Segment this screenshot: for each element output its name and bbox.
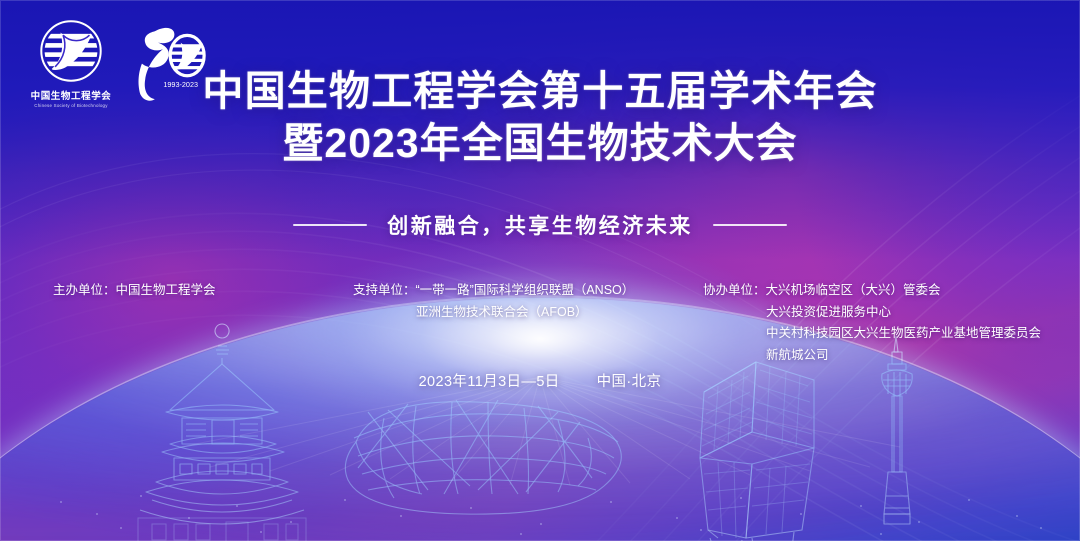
date-location-bar: 2023年11月3日—5日 中国·北京 bbox=[0, 370, 1080, 391]
organizer-column-support: 支持单位：“一带一路”国际科学组织联盟（ANSO） 亚洲生物技术联合会（AFOB… bbox=[353, 280, 703, 323]
organizer-column-coorganizer: 协办单位：大兴机场临空区（大兴）管委会 大兴投资促进服务中心 中关村科技园区大兴… bbox=[703, 280, 1033, 366]
organizer-value: “一带一路”国际科学组织联盟（ANSO） bbox=[416, 283, 635, 297]
organizer-line: 协办单位：大兴机场临空区（大兴）管委会 bbox=[703, 280, 1033, 302]
organizer-role: 主办单位： bbox=[53, 283, 116, 297]
organizer-line: 中关村科技园区大兴生物医药产业基地管理委员会 bbox=[703, 323, 1033, 345]
slogan-rule-left bbox=[293, 224, 367, 226]
organizer-value: 中国生物工程学会 bbox=[116, 283, 216, 297]
organizer-line: 主办单位：中国生物工程学会 bbox=[53, 280, 353, 302]
organizers-block: 主办单位：中国生物工程学会 支持单位：“一带一路”国际科学组织联盟（ANSO） … bbox=[0, 280, 1080, 366]
organizer-line: 大兴投资促进服务中心 bbox=[703, 302, 1033, 324]
organizer-column-sponsor: 主办单位：中国生物工程学会 bbox=[47, 280, 353, 302]
organizer-role: 支持单位： bbox=[353, 283, 416, 297]
organizer-line: 支持单位：“一带一路”国际科学组织联盟（ANSO） bbox=[353, 280, 703, 302]
slogan-rule-right bbox=[713, 224, 787, 226]
banner-content: 中国生物工程学会 Chinese Society of Biotechnolog… bbox=[0, 0, 1080, 541]
conference-banner: 中国生物工程学会 Chinese Society of Biotechnolog… bbox=[0, 0, 1080, 541]
event-date: 2023年11月3日—5日 bbox=[419, 374, 560, 390]
organizer-line: 亚洲生物技术联合会（AFOB） bbox=[353, 302, 703, 324]
slogan-text: 创新融合，共享生物经济未来 bbox=[387, 210, 693, 240]
organizer-role: 协办单位： bbox=[703, 283, 766, 297]
title-block: 中国生物工程学会第十五届学术年会 暨2023年全国生物技术大会 bbox=[0, 66, 1080, 169]
organizer-line: 新航城公司 bbox=[703, 345, 1033, 367]
slogan-row: 创新融合，共享生物经济未来 bbox=[0, 210, 1080, 240]
event-location: 中国·北京 bbox=[597, 374, 662, 390]
title-line-2: 暨2023年全国生物技术大会 bbox=[0, 118, 1080, 170]
organizer-value: 大兴机场临空区（大兴）管委会 bbox=[766, 283, 941, 297]
title-line-1: 中国生物工程学会第十五届学术年会 bbox=[0, 66, 1080, 118]
